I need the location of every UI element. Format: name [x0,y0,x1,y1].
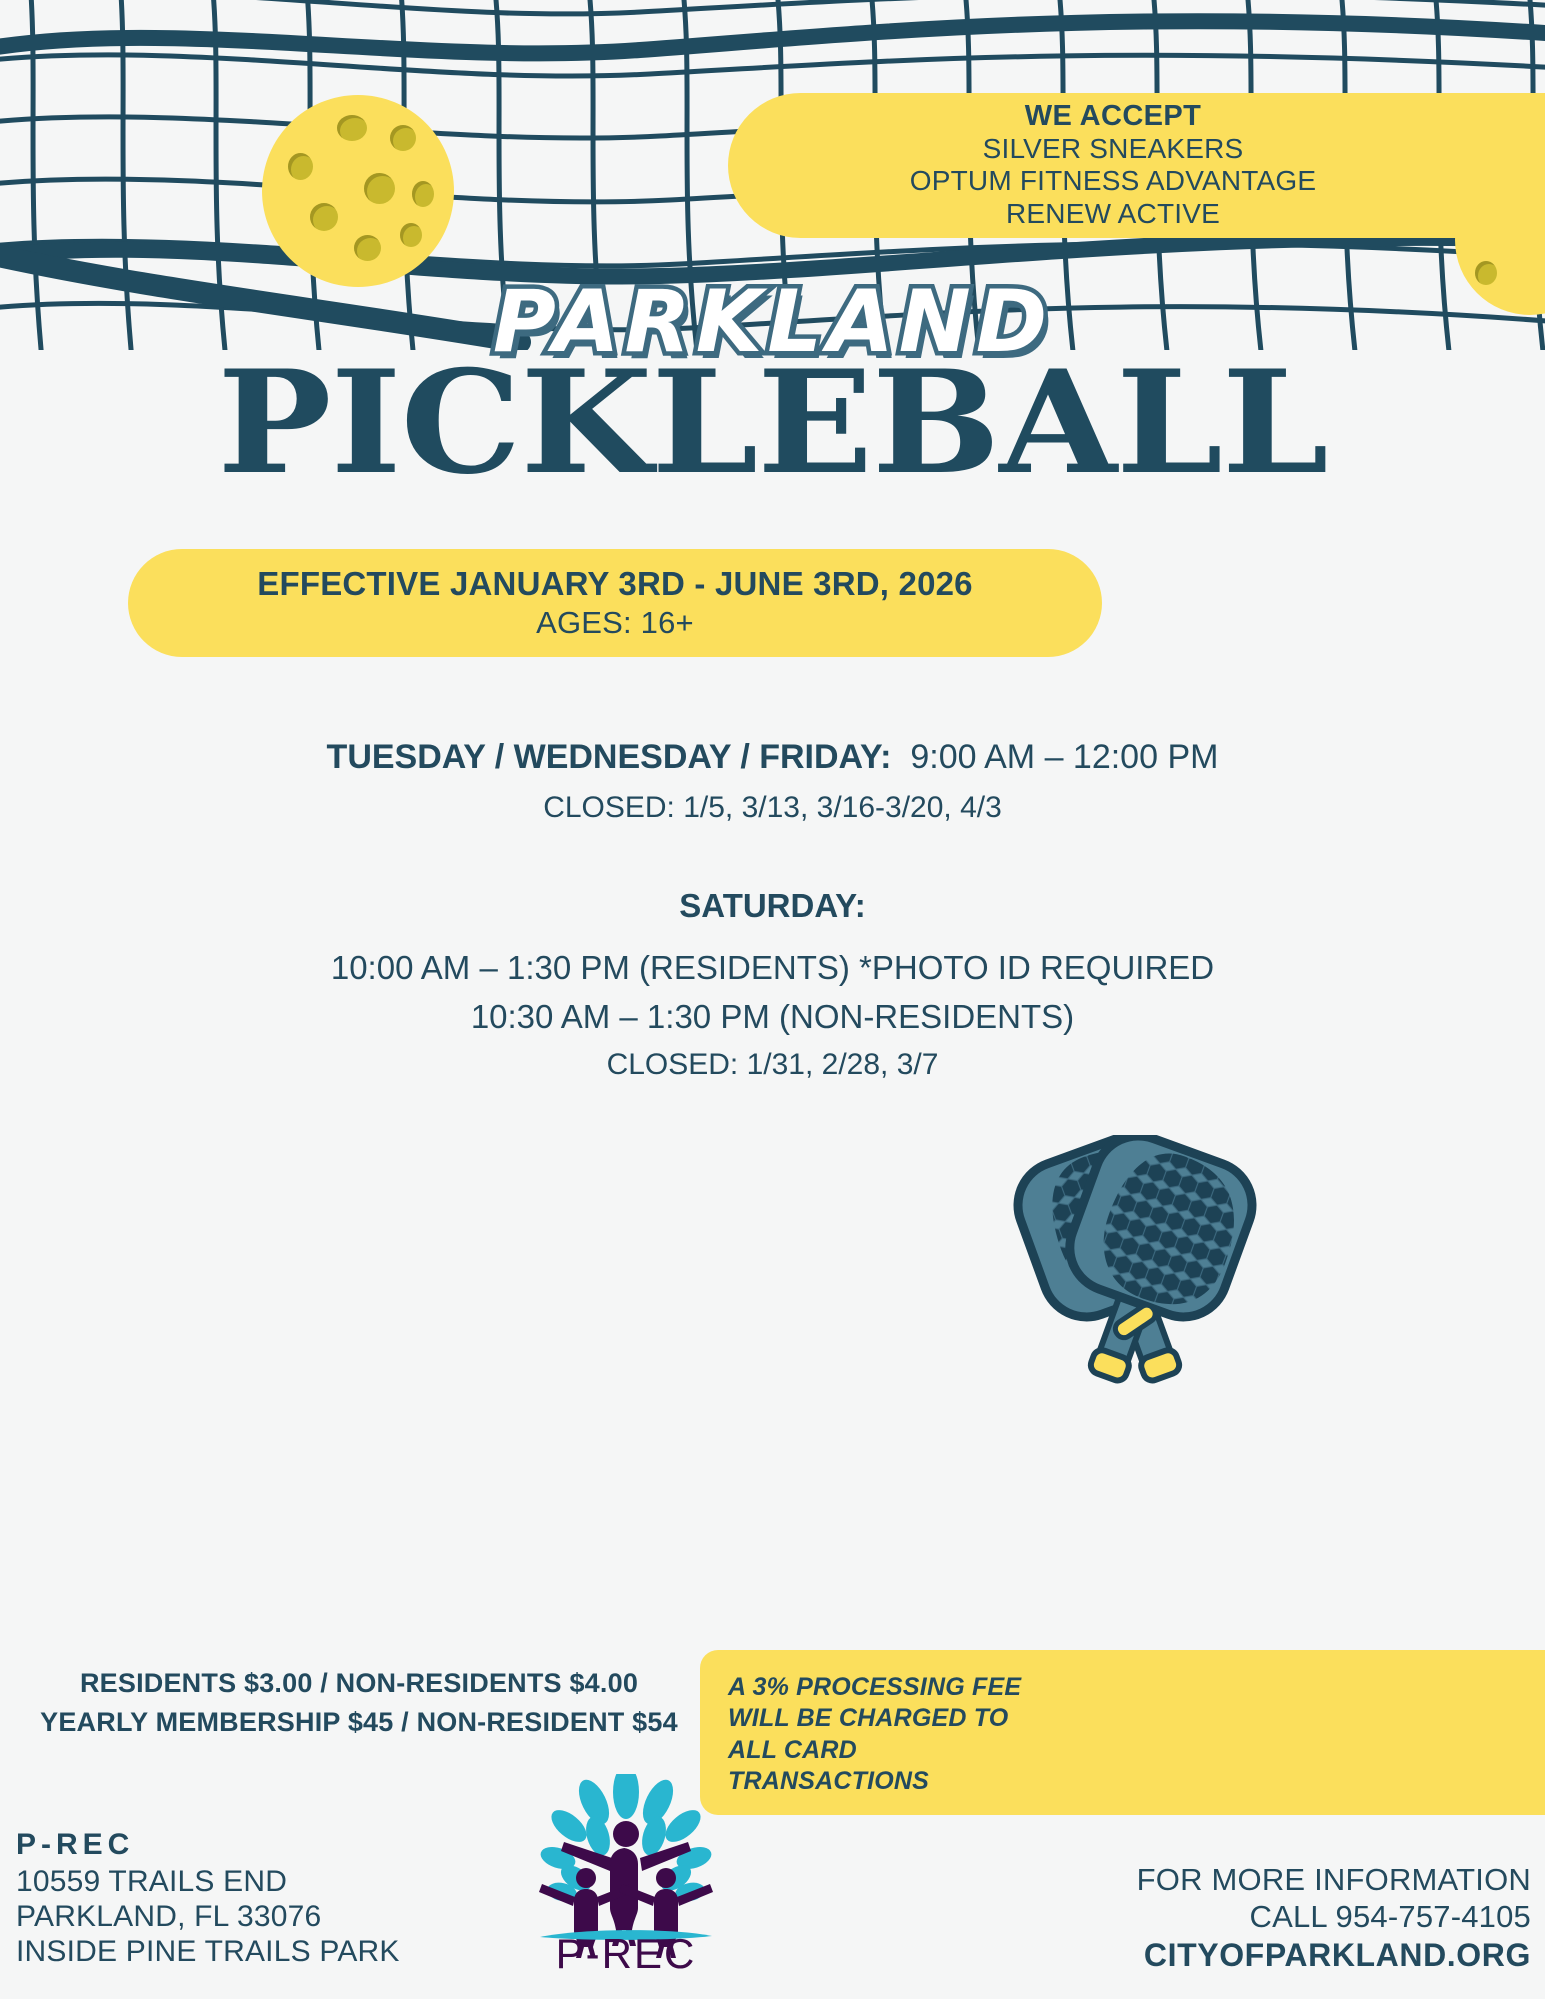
effective-dates-pill: EFFECTIVE JANUARY 3RD - JUNE 3RD, 2026 A… [128,549,1102,657]
pricing-yearly: YEARLY MEMBERSHIP $45 / NON-RESIDENT $54 [0,1703,718,1742]
address-line-2: PARKLAND, FL 33076 [16,1899,536,1934]
schedule-block: TUESDAY / WEDNESDAY / FRIDAY: 9:00 AM – … [0,735,1545,1082]
processing-fee-box: A 3% PROCESSING FEE WILL BE CHARGED TO A… [700,1650,1545,1815]
flyer-canvas: WE ACCEPT SILVER SNEAKERS OPTUM FITNESS … [0,0,1545,1999]
weekday-schedule-row: TUESDAY / WEDNESDAY / FRIDAY: 9:00 AM – … [0,735,1545,781]
contact-block: FOR MORE INFORMATION CALL 954-757-4105 C… [831,1862,1531,1975]
address-line-3: INSIDE PINE TRAILS PARK [16,1934,536,1969]
weekday-closed-dates: CLOSED: 1/5, 3/13, 3/16-3/20, 4/3 [0,787,1545,829]
prec-logo-text: P-REC [516,1930,736,1978]
saturday-label: SATURDAY: [0,887,1545,925]
weekday-hours-value: 9:00 AM – 12:00 PM [910,738,1218,776]
title-pickleball: PICKLEBALL [0,352,1545,494]
pricing-daily: RESIDENTS $3.00 / NON-RESIDENTS $4.00 [0,1664,718,1703]
pickleball-paddles-icon [985,1135,1285,1395]
saturday-closed-dates: CLOSED: 1/31, 2/28, 3/7 [0,1048,1545,1082]
address-block: P-REC 10559 TRAILS END PARKLAND, FL 3307… [16,1825,536,1969]
processing-fee-text: A 3% PROCESSING FEE WILL BE CHARGED TO A… [728,1672,1058,1797]
we-accept-badge: WE ACCEPT SILVER SNEAKERS OPTUM FITNESS … [728,93,1545,238]
we-accept-item-1: OPTUM FITNESS ADVANTAGE [910,165,1317,198]
contact-phone: CALL 954-757-4105 [831,1899,1531,1936]
we-accept-item-0: SILVER SNEAKERS [983,133,1244,166]
ages-text: AGES: 16+ [536,604,694,643]
weekday-days-label: TUESDAY / WEDNESDAY / FRIDAY: [327,738,892,776]
pricing-block: RESIDENTS $3.00 / NON-RESIDENTS $4.00 YE… [0,1664,718,1742]
we-accept-item-2: RENEW ACTIVE [1006,198,1220,231]
saturday-residents-hours: 10:00 AM – 1:30 PM (RESIDENTS) *PHOTO ID… [0,943,1545,993]
pickleball-ball-icon [262,95,454,287]
facility-name: P-REC [16,1825,536,1864]
address-line-1: 10559 TRAILS END [16,1864,536,1899]
effective-dates-text: EFFECTIVE JANUARY 3RD - JUNE 3RD, 2026 [257,564,972,604]
we-accept-heading: WE ACCEPT [1025,100,1202,132]
saturday-non-residents-hours: 10:30 AM – 1:30 PM (NON-RESIDENTS) [0,992,1545,1042]
contact-website[interactable]: CITYOFPARKLAND.ORG [831,1935,1531,1975]
contact-more-info: FOR MORE INFORMATION [831,1862,1531,1899]
